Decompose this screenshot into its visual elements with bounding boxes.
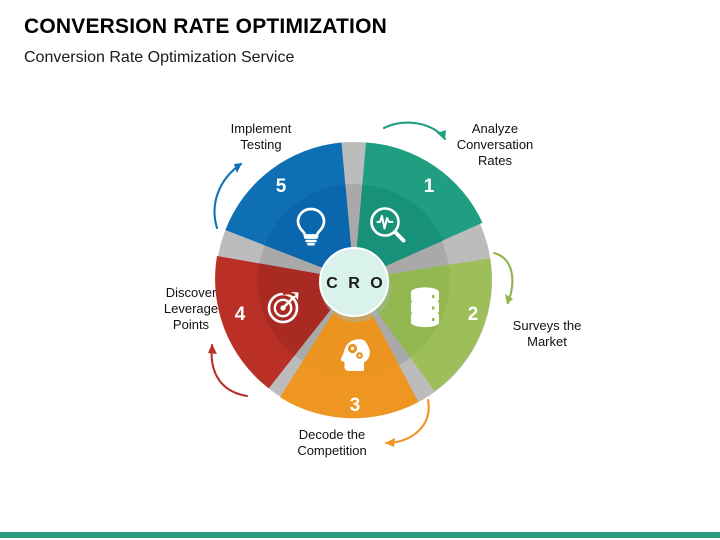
wheel-graphic: 1 2 xyxy=(0,0,720,540)
callout-label-2: Surveys the Market xyxy=(492,318,602,350)
database-icon xyxy=(411,287,439,327)
center-hub[interactable]: C R O xyxy=(320,248,391,322)
center-hub-label: C R O xyxy=(326,275,385,292)
segment-3-number: 3 xyxy=(350,395,361,416)
segment-2-number: 2 xyxy=(468,304,479,325)
callout-label-5: Implement Testing xyxy=(206,121,316,153)
slide-canvas: CONVERSION RATE OPTIMIZATION Conversion … xyxy=(0,0,720,540)
callout-label-1: Analyze Conversation Rates xyxy=(436,121,554,169)
footer-accent-bar xyxy=(0,532,720,538)
cro-wheel-diagram: 1 2 xyxy=(0,0,720,540)
callout-label-4: Discover Leverage Points xyxy=(143,285,239,333)
callout-label-3: Decode the Competition xyxy=(272,427,392,459)
segment-1-number: 1 xyxy=(424,176,435,197)
segment-5-number: 5 xyxy=(276,176,287,197)
callout-arrow-2 xyxy=(494,253,513,304)
